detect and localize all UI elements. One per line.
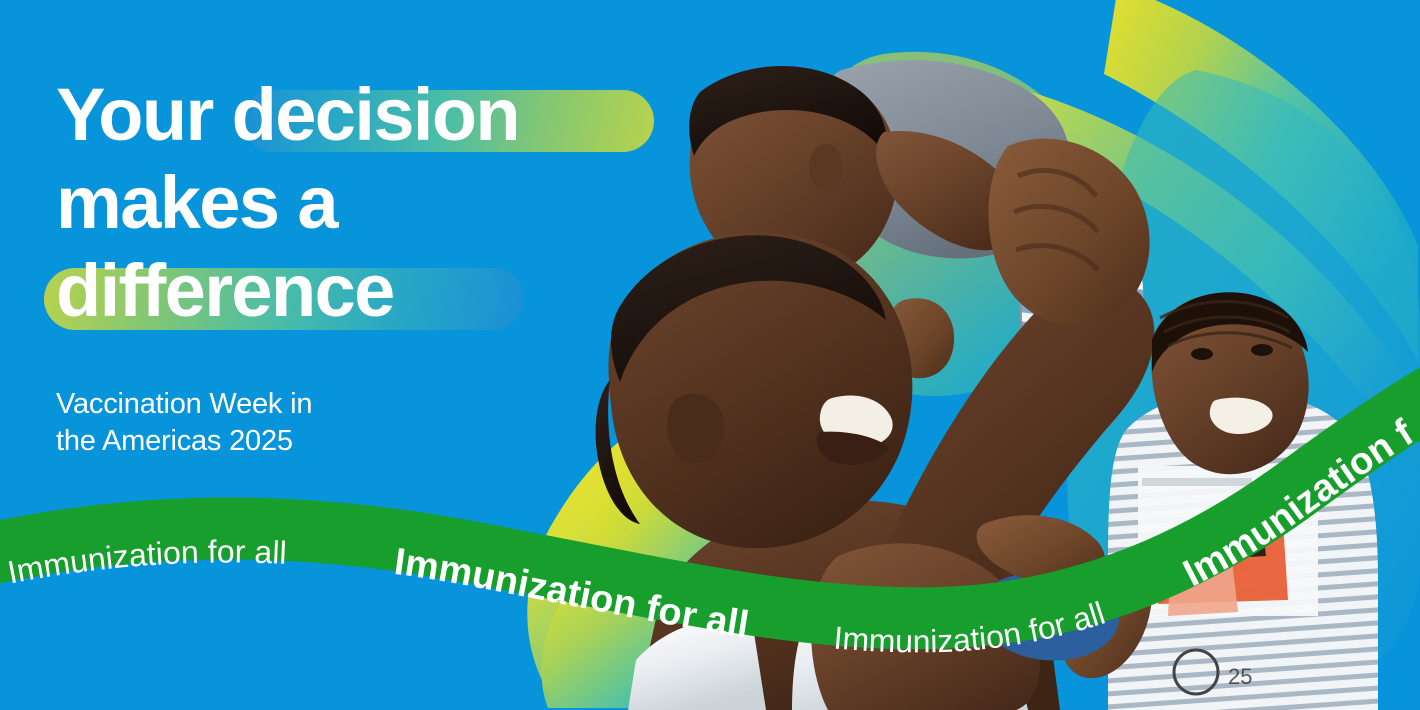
woman-eye-right xyxy=(1251,344,1273,356)
headline-line-1-highlight: decision xyxy=(232,73,519,156)
subtitle-line-2: the Americas 2025 xyxy=(56,423,676,460)
svg-text:T: T xyxy=(1262,470,1283,508)
text-block: Your decision makes a difference Vaccina… xyxy=(56,78,676,460)
headline-line-1: Your decision xyxy=(56,78,676,166)
page-title: Your decision makes a difference xyxy=(56,78,676,342)
child-ear xyxy=(809,144,843,192)
vaccination-week-banner: T 25 xyxy=(0,0,1420,710)
headline-line-3-highlight: difference xyxy=(56,249,394,332)
headline-line-1-prefix: Your xyxy=(56,73,232,156)
svg-text:25: 25 xyxy=(1228,664,1252,689)
woman-eye-left xyxy=(1191,348,1213,360)
father-hand xyxy=(989,139,1150,326)
headline-line-2-text: makes a xyxy=(56,161,337,244)
subtitle-line-1: Vaccination Week in xyxy=(56,386,676,423)
headline-line-2: makes a xyxy=(56,166,676,254)
headline-line-3: difference xyxy=(56,254,676,342)
father-tank-left xyxy=(628,618,766,710)
subtitle: Vaccination Week in the Americas 2025 xyxy=(56,386,676,460)
